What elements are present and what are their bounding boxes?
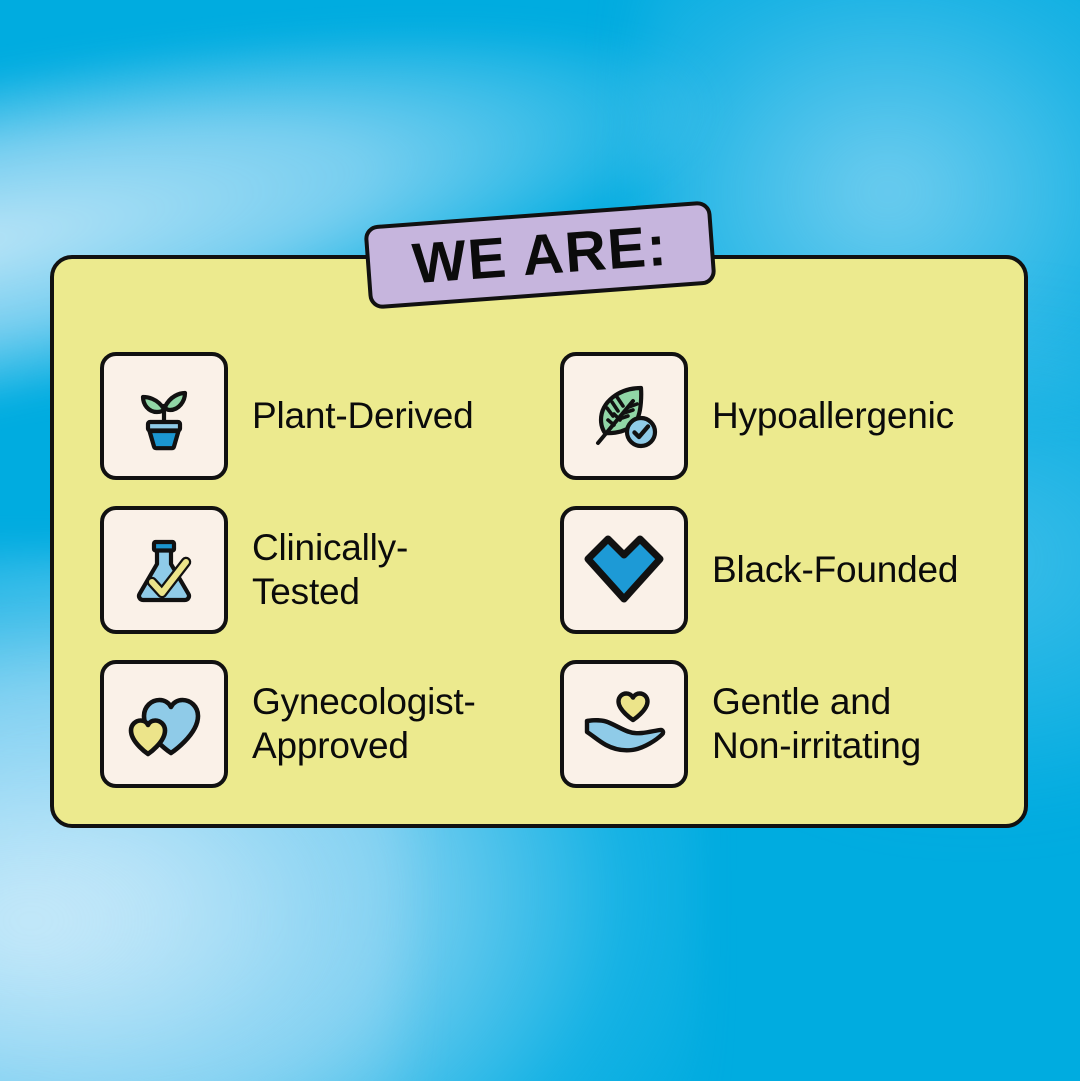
feature-item-gentle-non-irritating: Gentle and Non-irritating <box>560 647 1000 801</box>
feature-item-hypoallergenic: Hypoallergenic <box>560 339 1000 493</box>
feature-item-gynecologist-approved: Gynecologist- Approved <box>100 647 560 801</box>
flask-check-icon <box>100 506 228 634</box>
heart-icon <box>560 506 688 634</box>
feature-label: Gentle and Non-irritating <box>712 680 921 767</box>
potted-plant-icon <box>100 352 228 480</box>
leaf-check-icon <box>560 352 688 480</box>
feature-label: Gynecologist- Approved <box>252 680 476 767</box>
feature-item-clinically-tested: Clinically- Tested <box>100 493 560 647</box>
features-grid: Plant-Derived <box>100 339 1000 801</box>
double-hearts-icon <box>100 660 228 788</box>
hand-heart-icon <box>560 660 688 788</box>
feature-label: Hypoallergenic <box>712 394 954 438</box>
feature-item-black-founded: Black-Founded <box>560 493 1000 647</box>
feature-item-plant-derived: Plant-Derived <box>100 339 560 493</box>
poster-canvas: Plant-Derived <box>0 0 1080 1081</box>
feature-label: Black-Founded <box>712 548 958 592</box>
feature-label: Plant-Derived <box>252 394 474 438</box>
features-card: Plant-Derived <box>50 255 1028 828</box>
banner-title: WE ARE: <box>411 217 670 293</box>
feature-label: Clinically- Tested <box>252 526 408 613</box>
